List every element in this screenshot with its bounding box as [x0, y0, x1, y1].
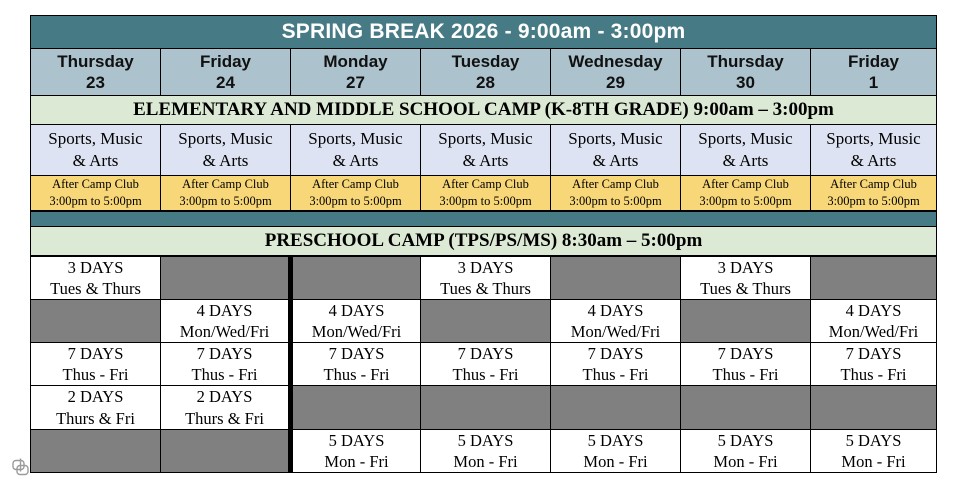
- preschool-blocked-cell: [811, 386, 937, 429]
- day-header-cell: Friday1: [811, 49, 937, 96]
- preschool-option-detail: Mon - Fri: [293, 451, 420, 472]
- preschool-option-days: 7 DAYS: [811, 343, 936, 364]
- elementary-banner-row: ELEMENTARY AND MIDDLE SCHOOL CAMP (K-8TH…: [31, 96, 937, 125]
- preschool-option-days: 3 DAYS: [681, 257, 810, 278]
- preschool-option-detail: Thurs & Fri: [161, 408, 288, 429]
- activity-cell: Sports, Music& Arts: [291, 125, 421, 176]
- preschool-option-detail: Tues & Thurs: [421, 278, 550, 299]
- preschool-option-days: 7 DAYS: [551, 343, 680, 364]
- preschool-option-row: 3 DAYSTues & Thurs3 DAYSTues & Thurs3 DA…: [31, 256, 937, 299]
- activity-line-1: Sports, Music: [291, 128, 420, 150]
- preschool-option-detail: Mon - Fri: [811, 451, 936, 472]
- preschool-option-detail: Thus - Fri: [681, 364, 810, 385]
- preschool-grid-table: 3 DAYSTues & Thurs3 DAYSTues & Thurs3 DA…: [30, 256, 937, 473]
- preschool-blocked-cell: [681, 386, 811, 429]
- activity-line-2: & Arts: [551, 150, 680, 172]
- day-header-cell: Tuesday28: [421, 49, 551, 96]
- preschool-option-cell: 4 DAYSMon/Wed/Fri: [161, 299, 291, 342]
- activity-line-1: Sports, Music: [161, 128, 290, 150]
- after-club-time: 3:00pm to 5:00pm: [551, 193, 680, 210]
- preschool-option-row: 5 DAYSMon - Fri5 DAYSMon - Fri5 DAYSMon …: [31, 429, 937, 472]
- schedule-table-lower: PRESCHOOL CAMP (TPS/PS/MS) 8:30am – 5:00…: [30, 211, 937, 256]
- day-name: Monday: [291, 51, 420, 72]
- activity-cell: Sports, Music& Arts: [31, 125, 161, 176]
- after-club-time: 3:00pm to 5:00pm: [421, 193, 550, 210]
- preschool-option-days: 4 DAYS: [293, 300, 420, 321]
- activity-line-1: Sports, Music: [811, 128, 936, 150]
- after-club-title: After Camp Club: [811, 176, 936, 193]
- day-number: 30: [681, 72, 810, 93]
- preschool-blocked-cell: [291, 256, 421, 299]
- after-club-title: After Camp Club: [291, 176, 420, 193]
- day-number: 24: [161, 72, 290, 93]
- after-camp-club-cell: After Camp Club3:00pm to 5:00pm: [681, 176, 811, 211]
- day-name: Wednesday: [551, 51, 680, 72]
- preschool-option-days: 2 DAYS: [31, 386, 160, 407]
- after-camp-club-cell: After Camp Club3:00pm to 5:00pm: [811, 176, 937, 211]
- preschool-option-days: 3 DAYS: [421, 257, 550, 278]
- preschool-option-cell: 7 DAYSThus - Fri: [551, 343, 681, 386]
- preschool-option-detail: Mon/Wed/Fri: [551, 321, 680, 342]
- preschool-option-days: 5 DAYS: [293, 430, 420, 451]
- preschool-option-cell: 5 DAYSMon - Fri: [551, 429, 681, 472]
- preschool-option-cell: 4 DAYSMon/Wed/Fri: [551, 299, 681, 342]
- activity-cell: Sports, Music& Arts: [551, 125, 681, 176]
- after-club-time: 3:00pm to 5:00pm: [161, 193, 290, 210]
- preschool-option-days: 4 DAYS: [551, 300, 680, 321]
- title-row: SPRING BREAK 2026 - 9:00am - 3:00pm: [31, 16, 937, 49]
- activity-line-2: & Arts: [291, 150, 420, 172]
- schedule-title: SPRING BREAK 2026 - 9:00am - 3:00pm: [31, 16, 937, 49]
- preschool-option-detail: Thurs & Fri: [31, 408, 160, 429]
- activity-cell: Sports, Music& Arts: [161, 125, 291, 176]
- day-number: 1: [811, 72, 936, 93]
- preschool-option-row: 2 DAYSThurs & Fri2 DAYSThurs & Fri: [31, 386, 937, 429]
- after-camp-club-cell: After Camp Club3:00pm to 5:00pm: [31, 176, 161, 211]
- preschool-option-days: 7 DAYS: [681, 343, 810, 364]
- preschool-camp-banner: PRESCHOOL CAMP (TPS/PS/MS) 8:30am – 5:00…: [31, 226, 937, 255]
- preschool-option-detail: Mon/Wed/Fri: [161, 321, 288, 342]
- preschool-option-cell: 5 DAYSMon - Fri: [291, 429, 421, 472]
- activity-line-1: Sports, Music: [551, 128, 680, 150]
- day-name: Tuesday: [421, 51, 550, 72]
- preschool-option-detail: Mon/Wed/Fri: [811, 321, 936, 342]
- day-header-cell: Thursday30: [681, 49, 811, 96]
- preschool-option-detail: Mon - Fri: [421, 451, 550, 472]
- after-camp-club-cell: After Camp Club3:00pm to 5:00pm: [161, 176, 291, 211]
- preschool-option-detail: Mon - Fri: [681, 451, 810, 472]
- activity-line-2: & Arts: [31, 150, 160, 172]
- preschool-option-cell: 3 DAYSTues & Thurs: [421, 256, 551, 299]
- teal-spacer-row: [31, 211, 937, 226]
- preschool-option-cell: 5 DAYSMon - Fri: [681, 429, 811, 472]
- after-camp-club-row: After Camp Club3:00pm to 5:00pmAfter Cam…: [31, 176, 937, 211]
- after-club-title: After Camp Club: [681, 176, 810, 193]
- preschool-option-detail: Thus - Fri: [161, 364, 288, 385]
- preschool-blocked-cell: [551, 256, 681, 299]
- logo-watermark-icon: [8, 455, 34, 481]
- preschool-option-cell: 7 DAYSThus - Fri: [161, 343, 291, 386]
- preschool-blocked-cell: [681, 299, 811, 342]
- preschool-option-cell: 4 DAYSMon/Wed/Fri: [291, 299, 421, 342]
- preschool-option-detail: Mon/Wed/Fri: [293, 321, 420, 342]
- activity-line-2: & Arts: [421, 150, 550, 172]
- after-camp-club-cell: After Camp Club3:00pm to 5:00pm: [551, 176, 681, 211]
- after-club-time: 3:00pm to 5:00pm: [681, 193, 810, 210]
- preschool-option-cell: 7 DAYSThus - Fri: [31, 343, 161, 386]
- spring-break-schedule: SPRING BREAK 2026 - 9:00am - 3:00pm Thur…: [30, 15, 936, 473]
- after-camp-club-cell: After Camp Club3:00pm to 5:00pm: [291, 176, 421, 211]
- after-club-title: After Camp Club: [551, 176, 680, 193]
- preschool-option-cell: 2 DAYSThurs & Fri: [161, 386, 291, 429]
- preschool-option-cell: 3 DAYSTues & Thurs: [31, 256, 161, 299]
- day-header-row: Thursday23Friday24Monday27Tuesday28Wedne…: [31, 49, 937, 96]
- day-header-cell: Friday24: [161, 49, 291, 96]
- preschool-option-detail: Mon - Fri: [551, 451, 680, 472]
- day-number: 27: [291, 72, 420, 93]
- day-name: Friday: [811, 51, 936, 72]
- activity-line-1: Sports, Music: [421, 128, 550, 150]
- day-name: Thursday: [681, 51, 810, 72]
- preschool-option-days: 5 DAYS: [681, 430, 810, 451]
- activity-line-1: Sports, Music: [681, 128, 810, 150]
- after-club-title: After Camp Club: [31, 176, 160, 193]
- preschool-option-cell: 5 DAYSMon - Fri: [421, 429, 551, 472]
- preschool-option-days: 2 DAYS: [161, 386, 288, 407]
- preschool-blocked-cell: [291, 386, 421, 429]
- preschool-blocked-cell: [161, 256, 291, 299]
- preschool-option-days: 4 DAYS: [161, 300, 288, 321]
- preschool-option-days: 5 DAYS: [421, 430, 550, 451]
- preschool-option-days: 7 DAYS: [161, 343, 288, 364]
- schedule-table: SPRING BREAK 2026 - 9:00am - 3:00pm Thur…: [30, 15, 937, 211]
- preschool-option-days: 7 DAYS: [31, 343, 160, 364]
- preschool-option-days: 7 DAYS: [421, 343, 550, 364]
- activity-line-1: Sports, Music: [31, 128, 160, 150]
- activity-line-2: & Arts: [681, 150, 810, 172]
- day-number: 29: [551, 72, 680, 93]
- preschool-option-cell: 3 DAYSTues & Thurs: [681, 256, 811, 299]
- preschool-option-days: 7 DAYS: [293, 343, 420, 364]
- preschool-option-cell: 5 DAYSMon - Fri: [811, 429, 937, 472]
- activity-line-2: & Arts: [161, 150, 290, 172]
- day-header-cell: Monday27: [291, 49, 421, 96]
- preschool-option-days: 5 DAYS: [811, 430, 936, 451]
- preschool-option-row: 7 DAYSThus - Fri7 DAYSThus - Fri7 DAYSTh…: [31, 343, 937, 386]
- preschool-option-detail: Thus - Fri: [421, 364, 550, 385]
- day-number: 28: [421, 72, 550, 93]
- preschool-blocked-cell: [31, 429, 161, 472]
- preschool-option-cell: 7 DAYSThus - Fri: [421, 343, 551, 386]
- preschool-option-detail: Thus - Fri: [31, 364, 160, 385]
- day-header-cell: Thursday23: [31, 49, 161, 96]
- preschool-option-cell: 7 DAYSThus - Fri: [681, 343, 811, 386]
- activity-cell: Sports, Music& Arts: [811, 125, 937, 176]
- preschool-blocked-cell: [421, 299, 551, 342]
- preschool-banner-row: PRESCHOOL CAMP (TPS/PS/MS) 8:30am – 5:00…: [31, 226, 937, 255]
- preschool-option-detail: Tues & Thurs: [31, 278, 160, 299]
- preschool-blocked-cell: [811, 256, 937, 299]
- day-number: 23: [31, 72, 160, 93]
- preschool-option-detail: Tues & Thurs: [681, 278, 810, 299]
- activity-line-2: & Arts: [811, 150, 936, 172]
- after-camp-club-cell: After Camp Club3:00pm to 5:00pm: [421, 176, 551, 211]
- activity-cell: Sports, Music& Arts: [681, 125, 811, 176]
- preschool-option-cell: 4 DAYSMon/Wed/Fri: [811, 299, 937, 342]
- preschool-blocked-cell: [551, 386, 681, 429]
- after-club-title: After Camp Club: [161, 176, 290, 193]
- preschool-option-detail: Thus - Fri: [811, 364, 936, 385]
- teal-divider: [31, 211, 937, 226]
- preschool-option-cell: 2 DAYSThurs & Fri: [31, 386, 161, 429]
- elementary-camp-banner: ELEMENTARY AND MIDDLE SCHOOL CAMP (K-8TH…: [31, 96, 937, 125]
- day-name: Thursday: [31, 51, 160, 72]
- preschool-option-days: 5 DAYS: [551, 430, 680, 451]
- preschool-blocked-cell: [31, 299, 161, 342]
- after-club-time: 3:00pm to 5:00pm: [811, 193, 936, 210]
- after-club-time: 3:00pm to 5:00pm: [291, 193, 420, 210]
- preschool-blocked-cell: [421, 386, 551, 429]
- activity-cell: Sports, Music& Arts: [421, 125, 551, 176]
- preschool-blocked-cell: [161, 429, 291, 472]
- preschool-option-cell: 7 DAYSThus - Fri: [811, 343, 937, 386]
- preschool-option-detail: Thus - Fri: [293, 364, 420, 385]
- after-club-time: 3:00pm to 5:00pm: [31, 193, 160, 210]
- elementary-activity-row: Sports, Music& ArtsSports, Music& ArtsSp…: [31, 125, 937, 176]
- preschool-option-detail: Thus - Fri: [551, 364, 680, 385]
- after-club-title: After Camp Club: [421, 176, 550, 193]
- preschool-option-cell: 7 DAYSThus - Fri: [291, 343, 421, 386]
- preschool-option-days: 4 DAYS: [811, 300, 936, 321]
- preschool-option-row: 4 DAYSMon/Wed/Fri4 DAYSMon/Wed/Fri4 DAYS…: [31, 299, 937, 342]
- preschool-option-days: 3 DAYS: [31, 257, 160, 278]
- day-header-cell: Wednesday29: [551, 49, 681, 96]
- day-name: Friday: [161, 51, 290, 72]
